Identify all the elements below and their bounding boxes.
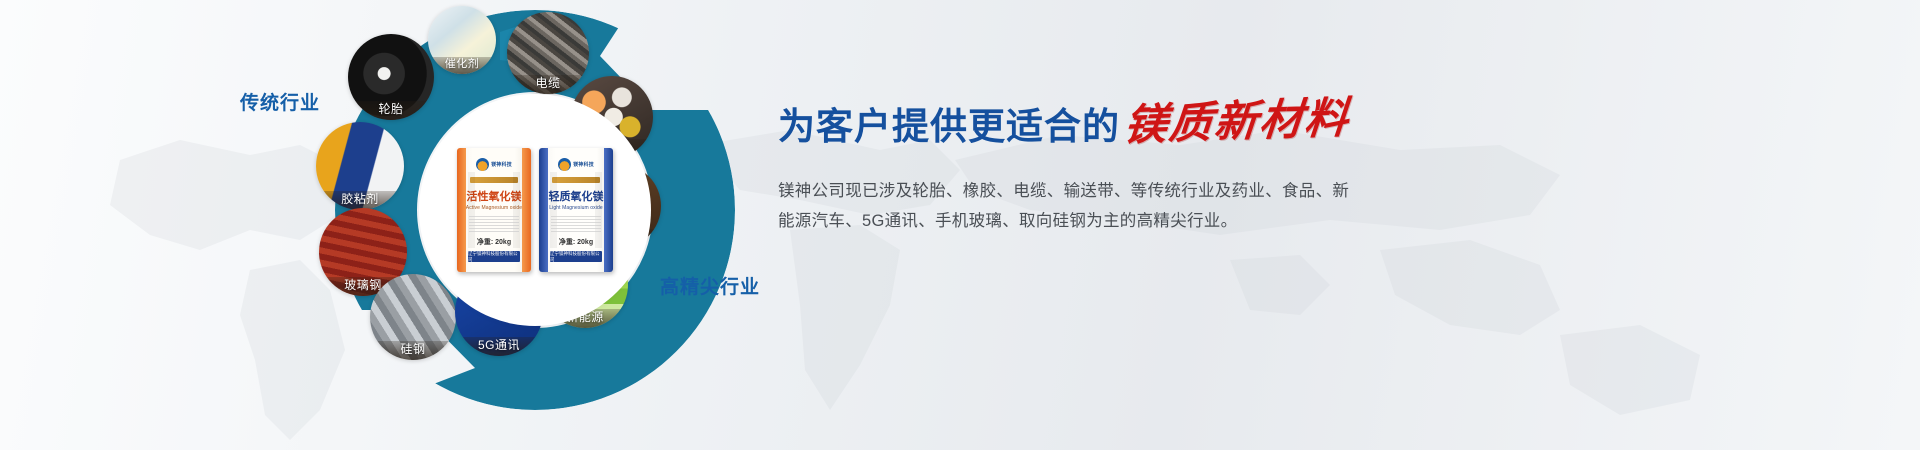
circle-label: 催化剂	[428, 57, 496, 74]
bag-edge-left	[457, 148, 466, 272]
circle-silicon-steel[interactable]: 硅钢	[370, 274, 456, 360]
industry-ring-graphic: 催化剂 电缆 轮胎 医药 胶粘剂 食品 玻璃钢 新能源 硅钢 5G 5G通讯	[300, 0, 820, 450]
product-bag-active-magnesium-oxide[interactable]: 镁神科技 活性氧化镁 Active Magnesium oxide 净重: 20…	[457, 148, 531, 272]
description-line-1: 镁神公司现已涉及轮胎、橡胶、电缆、输送带、等传统行业及药业、食品、新	[778, 176, 1368, 206]
bag-side-strip-left	[550, 172, 557, 248]
bag-edge-left	[539, 148, 548, 272]
bag-stripe	[552, 177, 600, 183]
bag-stripe	[470, 177, 518, 183]
bag-side-strip-left	[468, 172, 475, 248]
circle-label: 电缆	[507, 75, 589, 94]
brand-logo: 镁神科技	[471, 157, 517, 172]
headline-highlight: 镁质新材料	[1122, 96, 1352, 148]
circle-adhesive[interactable]: 胶粘剂	[316, 122, 404, 210]
brand-name: 镁神科技	[573, 162, 594, 168]
headline-primary: 为客户提供更适合的	[778, 106, 1120, 148]
bag-fineprint	[469, 216, 519, 232]
bag-side-strip-right	[595, 172, 602, 248]
product-disc: 镁神科技 活性氧化镁 Active Magnesium oxide 净重: 20…	[423, 98, 647, 322]
bag-fineprint	[551, 216, 601, 232]
product-bag-light-magnesium-oxide[interactable]: 镁神科技 轻质氧化镁 Light Magnesium oxide 净重: 20k…	[539, 148, 613, 272]
brand-name: 镁神科技	[491, 162, 512, 168]
company-name: 辽宁镁神科技股份有限公司	[550, 251, 602, 262]
circle-label: 轮胎	[348, 101, 434, 120]
brand-logo: 镁神科技	[553, 157, 599, 172]
bag-edge-right	[604, 148, 613, 272]
circle-label: 硅钢	[370, 341, 456, 360]
label-advanced-industry: 高精尖行业	[660, 272, 760, 299]
banner-text-block: 为客户提供更适合的 镁质新材料 镁神公司现已涉及轮胎、橡胶、电缆、输送带、等传统…	[778, 104, 1478, 236]
circle-tire[interactable]: 轮胎	[348, 34, 434, 120]
sunrise-icon	[476, 158, 489, 171]
circle-label: 5G通讯	[455, 337, 543, 356]
circle-catalyst[interactable]: 催化剂	[428, 6, 496, 74]
company-name: 辽宁镁神科技股份有限公司	[468, 251, 520, 262]
product-weight: 净重: 20kg	[477, 237, 511, 247]
bag-edge-right	[522, 148, 531, 272]
headline: 为客户提供更适合的 镁质新材料	[778, 104, 1478, 148]
product-weight: 净重: 20kg	[559, 237, 593, 247]
circle-cable[interactable]: 电缆	[507, 12, 589, 94]
label-traditional-industry: 传统行业	[240, 88, 320, 115]
bag-side-strip-right	[513, 172, 520, 248]
banner-description: 镁神公司现已涉及轮胎、橡胶、电缆、输送带、等传统行业及药业、食品、新 能源汽车、…	[778, 176, 1368, 236]
promo-banner: 催化剂 电缆 轮胎 医药 胶粘剂 食品 玻璃钢 新能源 硅钢 5G 5G通讯	[0, 0, 1920, 450]
description-line-2: 能源汽车、5G通讯、手机玻璃、取向硅钢为主的高精尖行业。	[778, 206, 1368, 236]
sunrise-icon	[558, 158, 571, 171]
